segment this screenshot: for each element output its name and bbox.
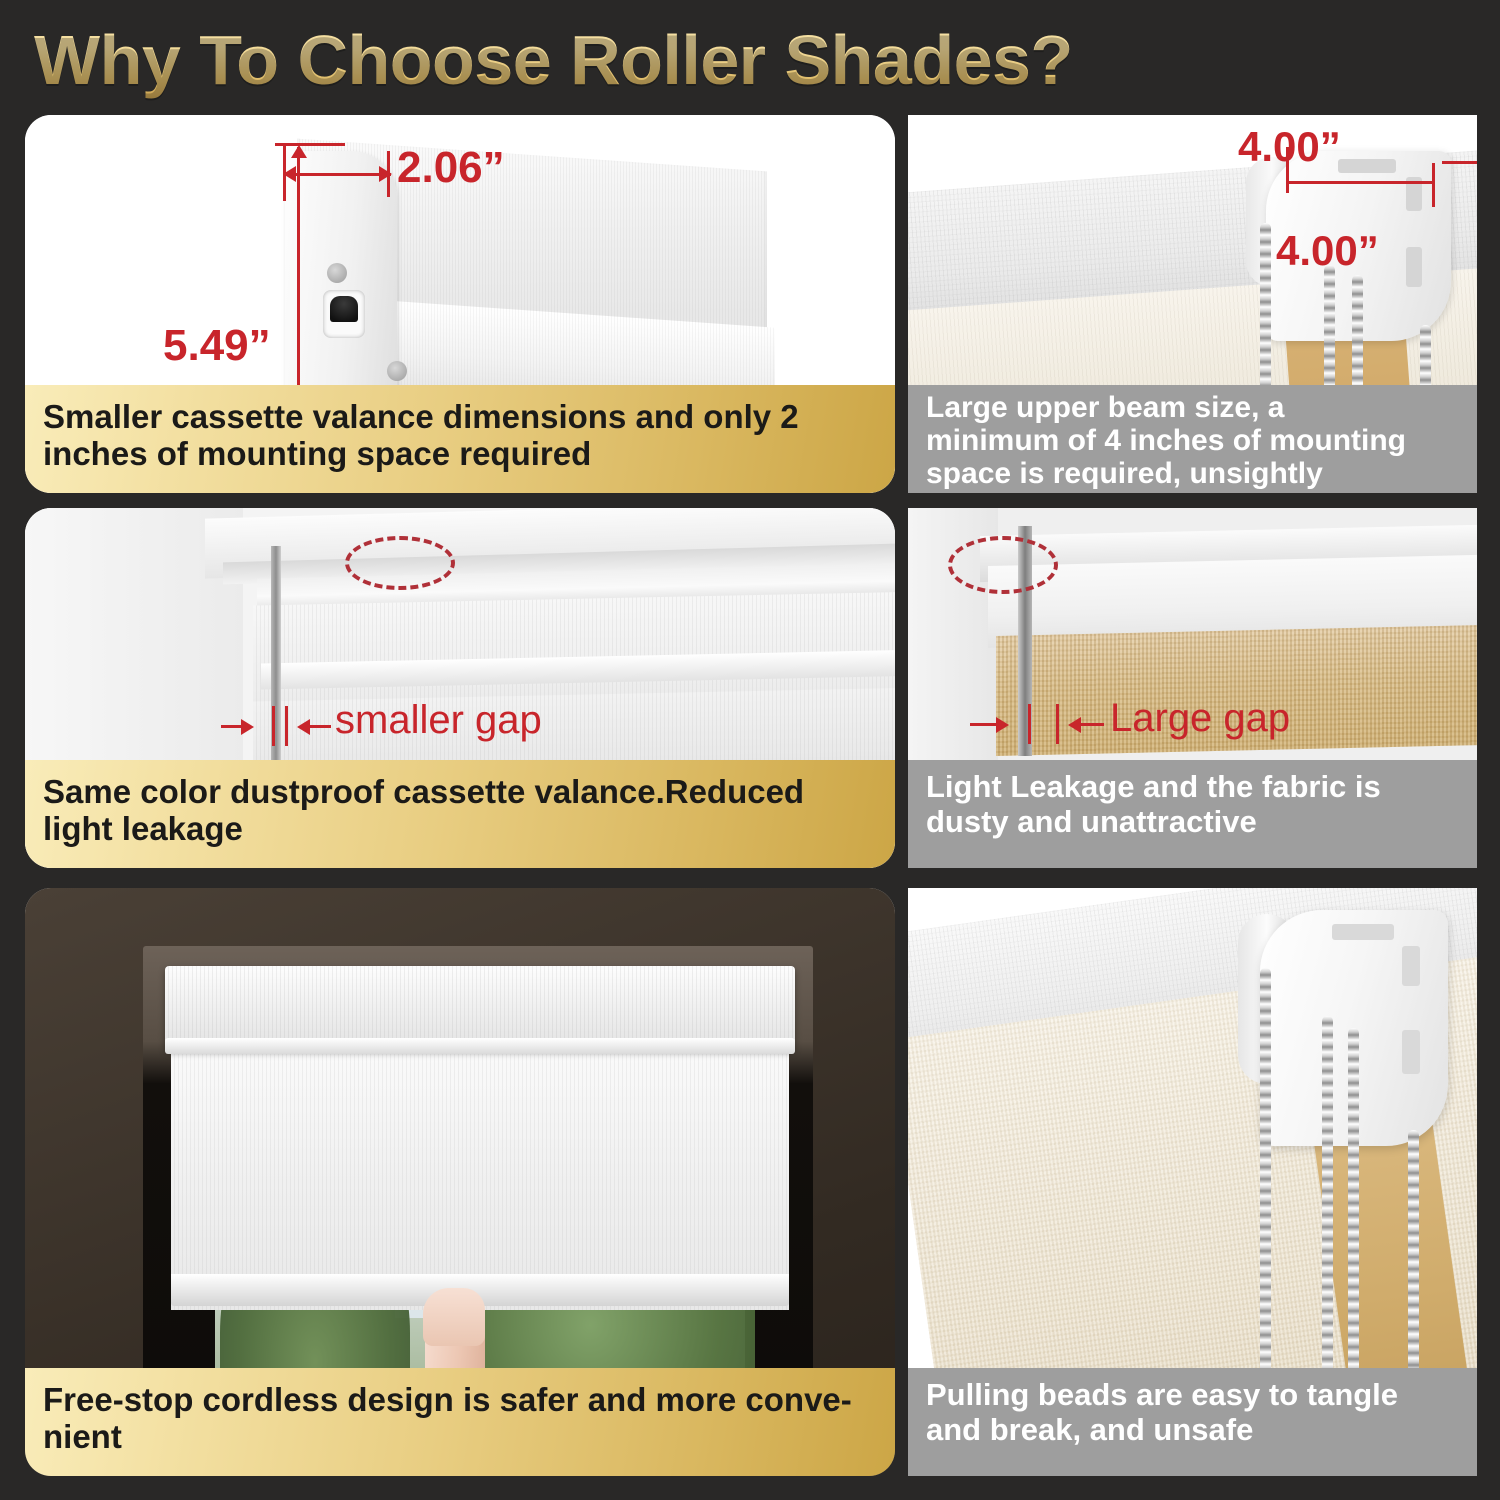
- gap-arrow-right-icon: [241, 719, 254, 735]
- gap-tick-left: [1028, 704, 1031, 744]
- dimension-label-width: 4.00”: [1238, 123, 1341, 171]
- dimension-label-width: 2.06”: [397, 143, 505, 193]
- highlight-ellipse-icon: [345, 536, 455, 590]
- gap-arrow-stem: [1080, 723, 1104, 726]
- panel-pro-small-gap: smaller gap Same color dustproof cassett…: [25, 508, 895, 868]
- caption-line: and break, and unsafe: [926, 1413, 1461, 1448]
- panel-pro-cordless: Free-stop cordless design is safer and m…: [25, 888, 895, 1476]
- dimension-label-height: 5.49”: [163, 321, 271, 371]
- gap-edge: [271, 546, 281, 786]
- caption-pro-small-gap: Same color dustproof cassette valance.Re…: [25, 760, 895, 868]
- gap-callout-label: Large gap: [1110, 696, 1290, 741]
- gap-tick-left: [272, 706, 275, 746]
- bead-chain: [1260, 968, 1271, 1408]
- caption-line: Pulling beads are easy to tangle: [926, 1378, 1461, 1413]
- gap-arrow-left-icon: [1068, 717, 1081, 733]
- bead-chain: [1348, 1028, 1359, 1416]
- caption-line: dusty and unattractive: [926, 805, 1461, 840]
- dim-arrow-right-icon: [379, 166, 392, 182]
- gap-arrow-stem: [309, 725, 331, 728]
- infographic-root: Why To Choose Roller Shades? 2.06”: [0, 0, 1500, 1500]
- caption-con-large-gap: Light Leakage and the fabric is dusty an…: [908, 760, 1477, 868]
- dial-icon: [323, 290, 365, 338]
- hand-fingers: [423, 1288, 485, 1346]
- caption-line: minimum of 4 inches of mounting: [926, 424, 1461, 457]
- caption-line: Smaller cassette valance dimensions and …: [43, 399, 879, 436]
- screw-icon: [387, 361, 407, 381]
- bead-chain: [1322, 1016, 1333, 1416]
- caption-pro-cassette-dimensions: Smaller cassette valance dimensions and …: [25, 385, 895, 493]
- caption-line: Large upper beam size, a: [926, 391, 1461, 424]
- panel-con-large-beam-dimensions: 4.00” 4.00” Large upper beam size, a min…: [908, 115, 1477, 493]
- dim-tick-right: [1432, 163, 1435, 207]
- highlight-ellipse-icon: [948, 536, 1058, 594]
- screw-icon: [327, 263, 347, 283]
- caption-line: light leakage: [43, 811, 879, 848]
- dim-line-width: [1288, 181, 1434, 184]
- caption-line: Free-stop cordless design is safer and m…: [43, 1382, 879, 1419]
- dim-arrow-left-icon: [283, 166, 296, 182]
- page-title: Why To Choose Roller Shades?: [34, 18, 1234, 102]
- caption-line: Same color dustproof cassette valance.Re…: [43, 774, 879, 811]
- dimension-label-height: 4.00”: [1276, 227, 1379, 275]
- roller-shade-fabric: [171, 1054, 789, 1310]
- caption-con-large-beam: Large upper beam size, a minimum of 4 in…: [908, 385, 1477, 493]
- caption-line: nient: [43, 1419, 879, 1456]
- caption-line: inches of mounting space required: [43, 436, 879, 473]
- gap-arrow-left-icon: [297, 719, 310, 735]
- panel-con-large-gap: Large gap Light Leakage and the fabric i…: [908, 508, 1477, 868]
- panel-con-pull-beads: Pulling beads are easy to tangle and bre…: [908, 888, 1477, 1476]
- gap-tick-right: [1056, 704, 1059, 744]
- gap-tick-right: [285, 706, 288, 746]
- dim-tick-top: [1442, 161, 1477, 164]
- gap-callout-label: smaller gap: [335, 698, 542, 743]
- panel-pro-cassette-dimensions: 2.06” 5.49” Smaller cassette valance dim…: [25, 115, 895, 493]
- caption-line: Light Leakage and the fabric is: [926, 770, 1461, 805]
- gap-arrow-right-icon: [996, 717, 1009, 733]
- caption-con-pull-beads: Pulling beads are easy to tangle and bre…: [908, 1368, 1477, 1476]
- dim-arrow-up-icon: [291, 145, 307, 158]
- caption-line: space is required, unsightly: [926, 457, 1461, 490]
- caption-pro-cordless: Free-stop cordless design is safer and m…: [25, 1368, 895, 1476]
- dim-tick-top: [275, 143, 345, 146]
- dim-line-width: [287, 173, 391, 176]
